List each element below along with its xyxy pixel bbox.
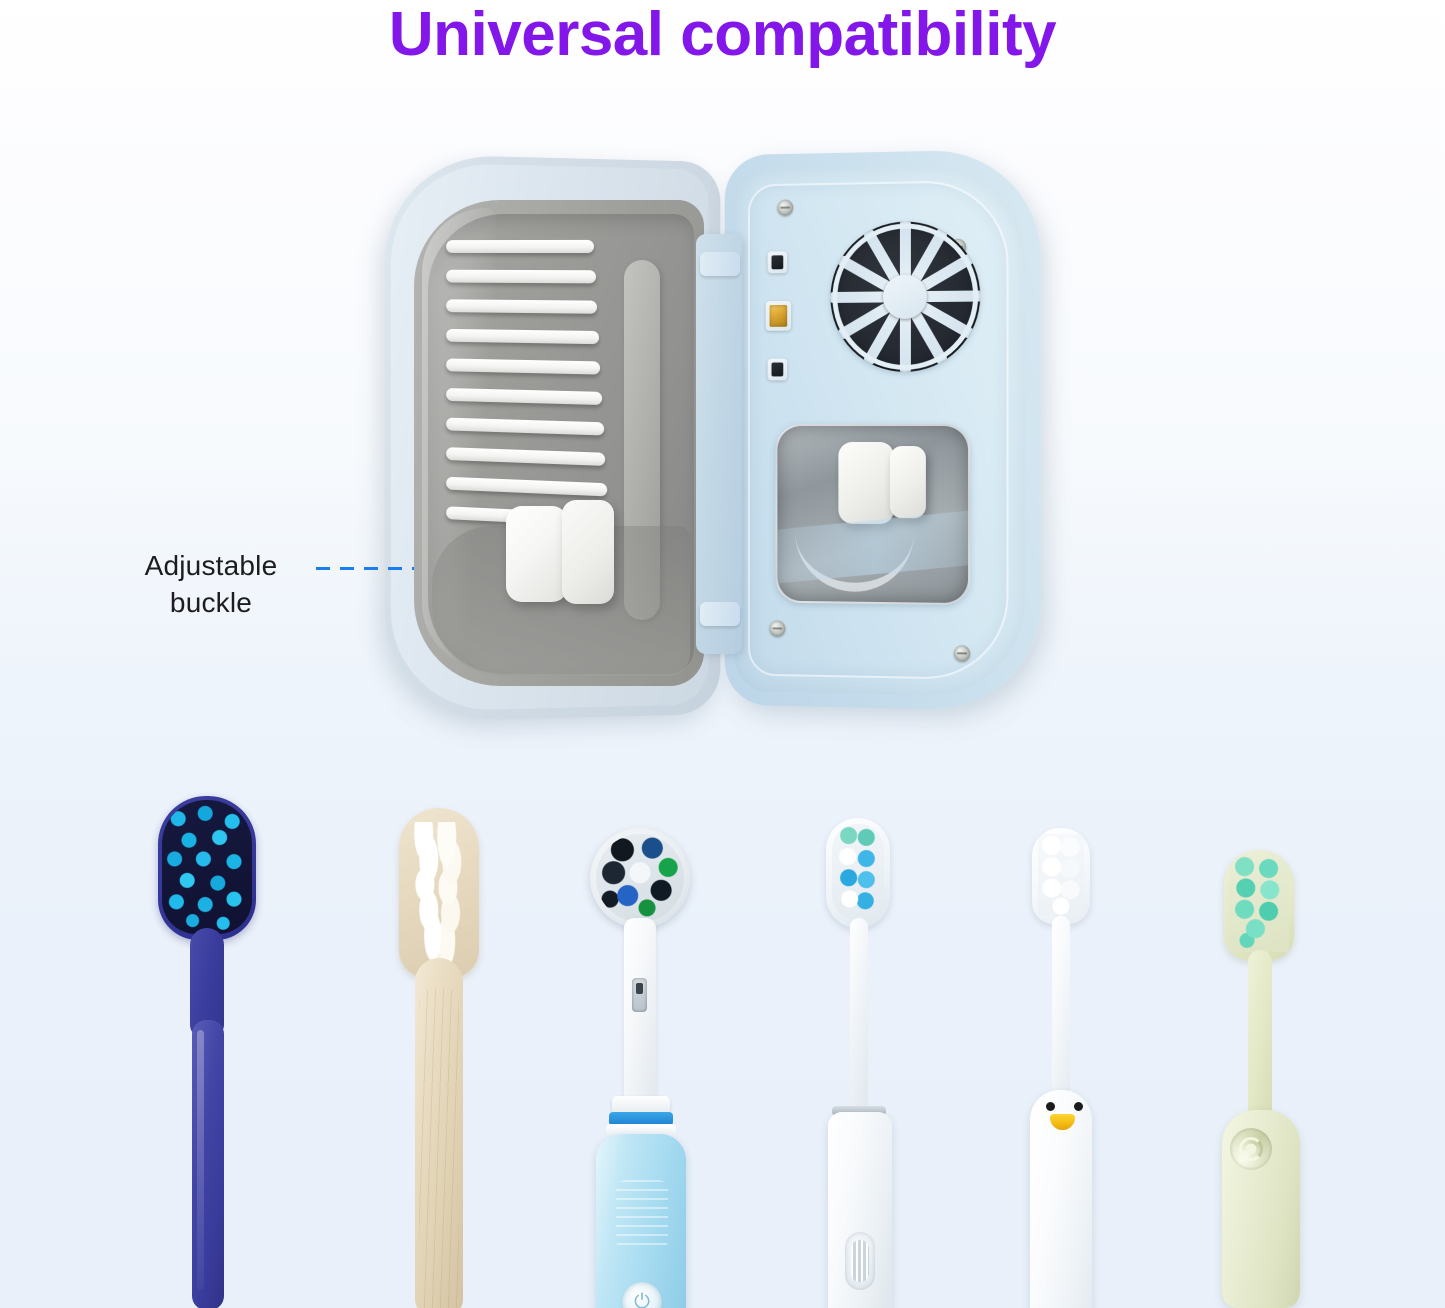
brush-neck-slot <box>632 978 647 1012</box>
brush-head <box>590 828 690 928</box>
silicone-manual-toothbrush <box>150 796 270 1308</box>
vent-slat <box>446 418 603 436</box>
duck-eye-left-icon <box>1046 1102 1055 1111</box>
reflective-mirror-window <box>775 424 970 605</box>
buckle-front-tab <box>506 506 568 602</box>
brush-neck <box>624 918 656 1108</box>
power-icon[interactable]: ⏻ <box>622 1282 662 1308</box>
case-hinge <box>696 234 742 654</box>
brush-head <box>1224 850 1294 960</box>
brush-bristles <box>596 834 684 922</box>
green-electric-toothbrush <box>1208 850 1318 1308</box>
callout-label-line2: buckle <box>86 585 336 622</box>
vent-slat <box>446 270 595 284</box>
brush-head <box>826 818 890 928</box>
rotating-electric-toothbrush: ⏻ <box>578 828 704 1308</box>
vent-slat <box>446 299 597 314</box>
brush-neck <box>1052 916 1070 1102</box>
brush-bristles <box>162 800 252 934</box>
spiral-logo-icon[interactable] <box>1230 1128 1272 1170</box>
brush-neck <box>850 918 868 1118</box>
brush-bristles <box>407 822 471 964</box>
hinge-tab-top <box>700 252 740 276</box>
ribbed-power-button-icon[interactable] <box>845 1232 875 1290</box>
vent-slat <box>446 358 600 374</box>
sonic-electric-toothbrush <box>808 818 912 1308</box>
uv-toothbrush-sanitizer-case <box>378 148 1048 728</box>
uv-led-chip-bottom <box>768 359 788 381</box>
brush-bristles <box>832 824 884 920</box>
uv-led-chip-top <box>768 251 788 273</box>
brush-head <box>1032 828 1090 924</box>
kids-duck-electric-toothbrush <box>1010 828 1114 1308</box>
brush-bristles <box>1229 855 1289 952</box>
product-feature-image: Universal compatibility <box>0 0 1445 1308</box>
callout-label-line1: Adjustable <box>86 548 336 585</box>
brush-bristles <box>1038 834 1084 916</box>
uv-led-gold-chip <box>766 301 791 331</box>
brush-head <box>399 808 479 978</box>
mirrored-buckle-rear <box>890 446 926 518</box>
adjustable-buckle[interactable] <box>506 500 614 608</box>
hinge-tab-bottom <box>700 602 740 626</box>
bamboo-manual-toothbrush <box>385 808 495 1308</box>
blue-lid-panel <box>725 149 1041 712</box>
vent-slats <box>446 240 610 544</box>
buckle-rear-tab <box>562 500 614 604</box>
page-title: Universal compatibility <box>0 2 1445 67</box>
screw-bottom-left <box>770 620 786 636</box>
brush-handle: ⏻ <box>596 1134 686 1308</box>
duck-eye-right-icon <box>1074 1102 1083 1111</box>
brush-head <box>158 796 256 940</box>
screw-bottom-right <box>954 645 970 661</box>
vent-slat <box>446 240 594 253</box>
brush-handle <box>828 1112 892 1308</box>
vent-slat <box>446 388 602 405</box>
vent-slat <box>446 447 605 466</box>
fan-outer-ring <box>832 222 978 370</box>
cooling-fan-grille <box>830 220 980 372</box>
vent-slat <box>446 477 607 497</box>
vent-slat <box>446 329 599 344</box>
brush-handle <box>192 1020 224 1308</box>
callout-label: Adjustable buckle <box>86 548 336 622</box>
grip-ridges <box>616 1180 668 1250</box>
bamboo-grain <box>419 988 459 1308</box>
